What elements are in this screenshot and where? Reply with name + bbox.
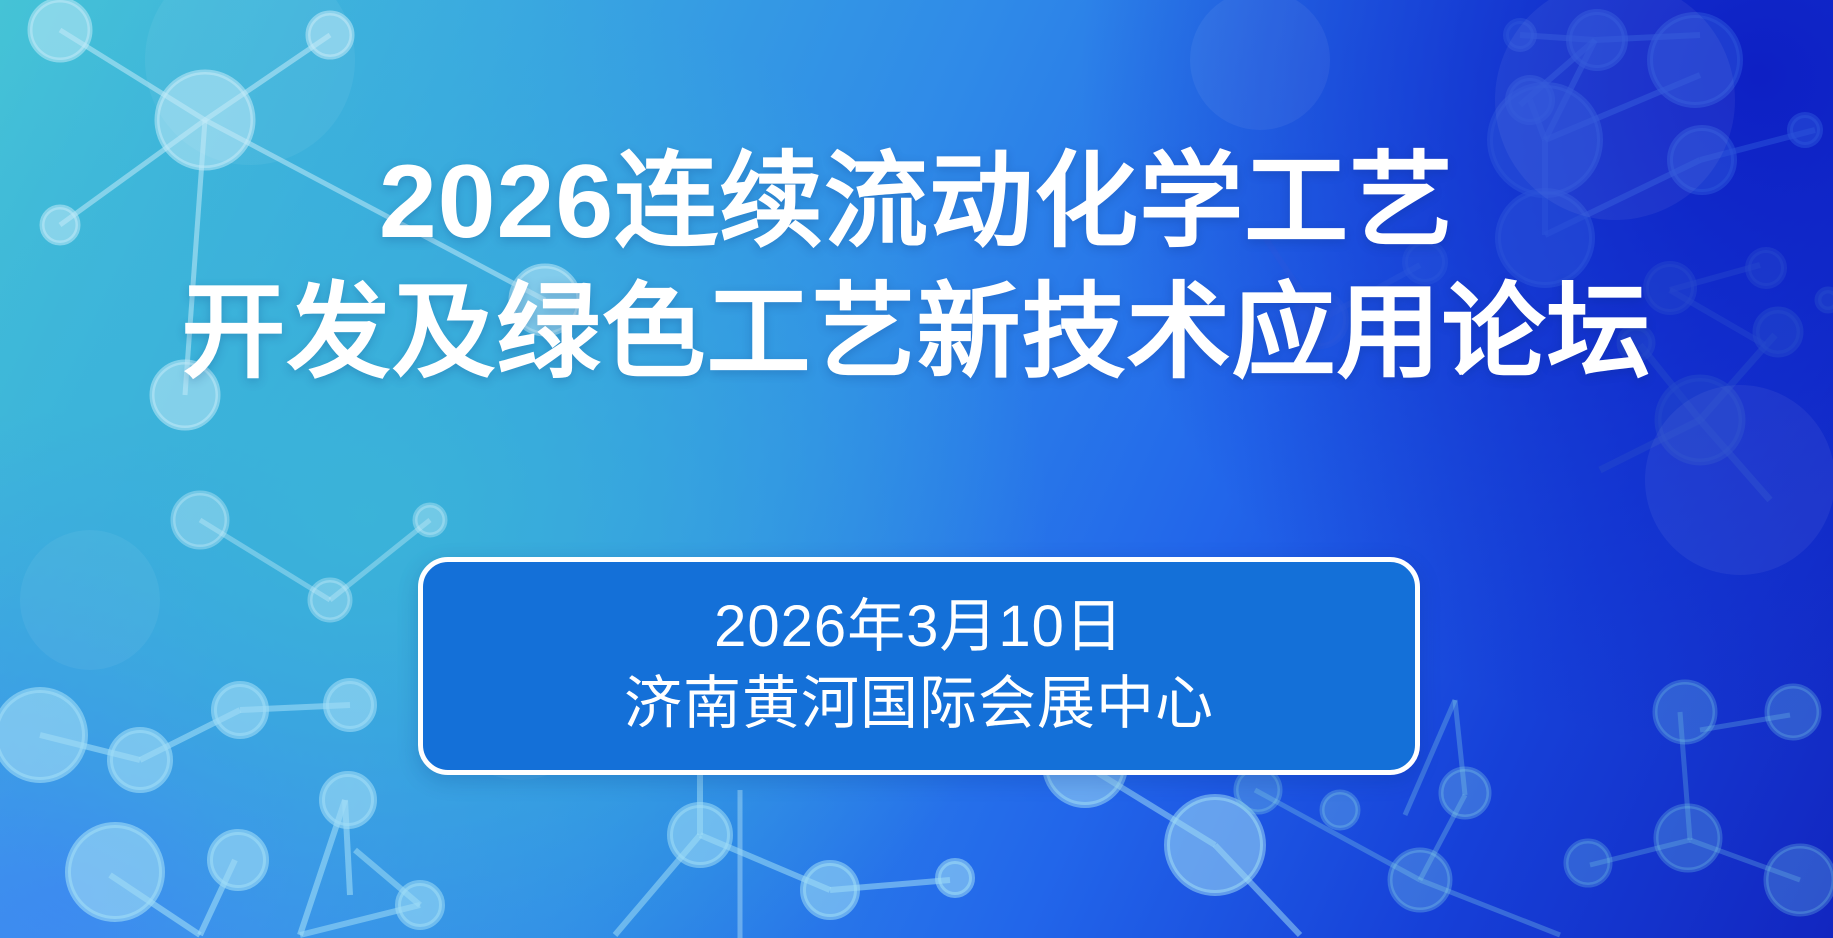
event-date: 2026年3月10日 bbox=[714, 592, 1124, 663]
event-info-box: 2026年3月10日 济南黄河国际会展中心 bbox=[418, 557, 1420, 775]
title-line-2: 开发及绿色工艺新技术应用论坛 bbox=[0, 271, 1833, 396]
title-line-1: 2026连续流动化学工艺 bbox=[0, 140, 1833, 265]
banner-title-block: 2026连续流动化学工艺 开发及绿色工艺新技术应用论坛 bbox=[0, 140, 1833, 396]
event-banner: 2026连续流动化学工艺 开发及绿色工艺新技术应用论坛 2026年3月10日 济… bbox=[0, 0, 1833, 938]
event-venue: 济南黄河国际会展中心 bbox=[624, 669, 1214, 740]
